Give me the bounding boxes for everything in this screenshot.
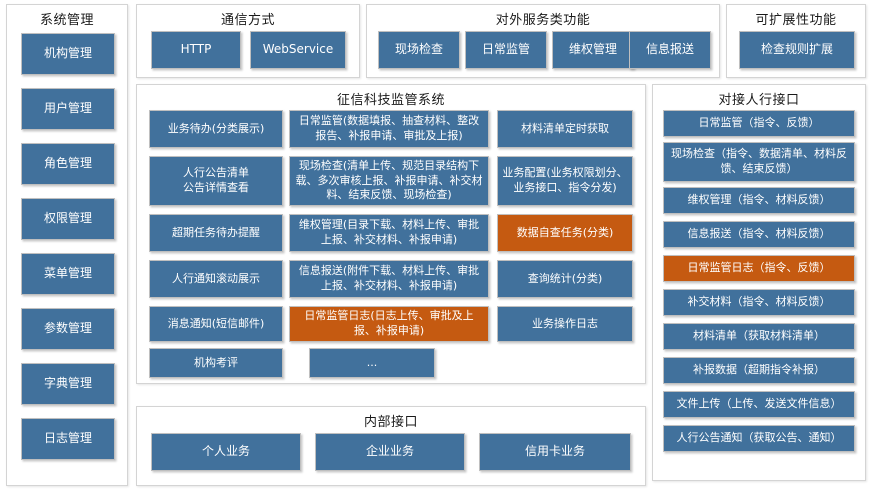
panel-core-system: 征信科技监管系统 业务待办(分类展示) 人行公告清单 公告详情查看 超期任务待办… bbox=[136, 84, 646, 384]
panel-communication: 通信方式 HTTP WebService bbox=[136, 4, 360, 78]
box-core-c1-2[interactable]: 超期任务待办提醒 bbox=[149, 214, 283, 252]
panel-external-services: 对外服务类功能 现场检查 日常监管 维权管理 信息报送 bbox=[366, 4, 720, 78]
box-core-c1-3[interactable]: 人行通知滚动展示 bbox=[149, 260, 283, 298]
panel-internal-interface: 内部接口 个人业务 企业业务 信用卡业务 bbox=[136, 406, 646, 486]
box-system-0[interactable]: 机构管理 bbox=[21, 33, 115, 75]
box-core-c2-2[interactable]: 维权管理(目录下载、材料上传、审批上报、补交材料、补报申请) bbox=[289, 214, 489, 252]
panel-title-internal-interface: 内部接口 bbox=[137, 407, 645, 431]
panel-title-pbc-interface: 对接人行接口 bbox=[653, 85, 865, 109]
box-core-c3-2[interactable]: 数据自查任务(分类) bbox=[497, 214, 633, 252]
box-core-c1-4[interactable]: 消息通知(短信邮件) bbox=[149, 306, 283, 342]
panel-title-system-management: 系统管理 bbox=[7, 5, 127, 29]
panel-title-communication: 通信方式 bbox=[137, 5, 359, 29]
box-system-6[interactable]: 字典管理 bbox=[21, 363, 115, 405]
box-system-4[interactable]: 菜单管理 bbox=[21, 253, 115, 295]
panel-title-core-system: 征信科技监管系统 bbox=[137, 85, 645, 109]
box-system-2[interactable]: 角色管理 bbox=[21, 143, 115, 185]
box-comm-1[interactable]: WebService bbox=[250, 31, 346, 69]
box-pbc-1[interactable]: 现场检查（指令、数据清单、材料反馈、结束反馈） bbox=[663, 142, 855, 182]
box-pbc-8[interactable]: 文件上传（上传、发送文件信息） bbox=[663, 391, 855, 418]
box-core-c2-5[interactable]: ... bbox=[309, 348, 435, 378]
box-external-1[interactable]: 日常监管 bbox=[465, 31, 547, 69]
box-pbc-5[interactable]: 补交材料（指令、材料反馈） bbox=[663, 289, 855, 316]
box-core-c2-1[interactable]: 现场检查(清单上传、规范目录结构下载、多次审核上报、补报申请、补交材料、结束反馈… bbox=[289, 156, 489, 206]
box-pbc-7[interactable]: 补报数据（超期指令补报） bbox=[663, 357, 855, 384]
panel-system-management: 系统管理 机构管理 用户管理 角色管理 权限管理 菜单管理 参数管理 字典管理 … bbox=[6, 4, 128, 486]
box-external-2[interactable]: 维权管理 bbox=[552, 31, 634, 69]
box-inner-1[interactable]: 企业业务 bbox=[315, 433, 465, 471]
box-comm-0[interactable]: HTTP bbox=[151, 31, 241, 69]
box-external-3[interactable]: 信息报送 bbox=[629, 31, 711, 69]
box-core-c3-0[interactable]: 材料清单定时获取 bbox=[497, 110, 633, 148]
panel-title-scalability: 可扩展性功能 bbox=[727, 5, 865, 29]
box-core-c3-1[interactable]: 业务配置(业务权限划分、业务接口、指令分发) bbox=[497, 156, 633, 206]
box-core-c1-0[interactable]: 业务待办(分类展示) bbox=[149, 110, 283, 148]
box-pbc-0[interactable]: 日常监管（指令、反馈） bbox=[663, 110, 855, 137]
box-core-c3-3[interactable]: 查询统计(分类) bbox=[497, 260, 633, 298]
box-system-5[interactable]: 参数管理 bbox=[21, 308, 115, 350]
box-pbc-2[interactable]: 维权管理（指令、材料反馈） bbox=[663, 187, 855, 214]
box-system-3[interactable]: 权限管理 bbox=[21, 198, 115, 240]
box-scalability-0[interactable]: 检查规则扩展 bbox=[739, 31, 855, 69]
box-system-1[interactable]: 用户管理 bbox=[21, 88, 115, 130]
box-pbc-9[interactable]: 人行公告通知（获取公告、通知） bbox=[663, 425, 855, 452]
box-pbc-6[interactable]: 材料清单（获取材料清单） bbox=[663, 323, 855, 350]
architecture-diagram: 系统管理 机构管理 用户管理 角色管理 权限管理 菜单管理 参数管理 字典管理 … bbox=[0, 0, 872, 495]
box-pbc-3[interactable]: 信息报送（指令、材料反馈） bbox=[663, 221, 855, 248]
box-core-c2-3[interactable]: 信息报送(附件下载、材料上传、审批上报、补交材料、补报申请) bbox=[289, 260, 489, 298]
box-pbc-4[interactable]: 日常监管日志（指令、反馈） bbox=[663, 255, 855, 282]
box-inner-2[interactable]: 信用卡业务 bbox=[479, 433, 631, 471]
box-core-c3-4[interactable]: 业务操作日志 bbox=[497, 306, 633, 342]
panel-scalability: 可扩展性功能 检查规则扩展 bbox=[726, 4, 866, 78]
box-core-c1-5[interactable]: 机构考评 bbox=[149, 348, 283, 378]
box-core-c2-0[interactable]: 日常监管(数据填报、抽查材料、整改报告、补报申请、审批及上报) bbox=[289, 110, 489, 148]
panel-pbc-interface: 对接人行接口 日常监管（指令、反馈） 现场检查（指令、数据清单、材料反馈、结束反… bbox=[652, 84, 866, 481]
box-core-c1-1[interactable]: 人行公告清单 公告详情查看 bbox=[149, 156, 283, 206]
panel-title-external-services: 对外服务类功能 bbox=[367, 5, 719, 29]
box-inner-0[interactable]: 个人业务 bbox=[151, 433, 301, 471]
box-external-0[interactable]: 现场检查 bbox=[378, 31, 460, 69]
box-core-c2-4[interactable]: 日常监管日志(日志上传、审批及上报、补报申请) bbox=[289, 306, 489, 342]
box-system-7[interactable]: 日志管理 bbox=[21, 418, 115, 460]
